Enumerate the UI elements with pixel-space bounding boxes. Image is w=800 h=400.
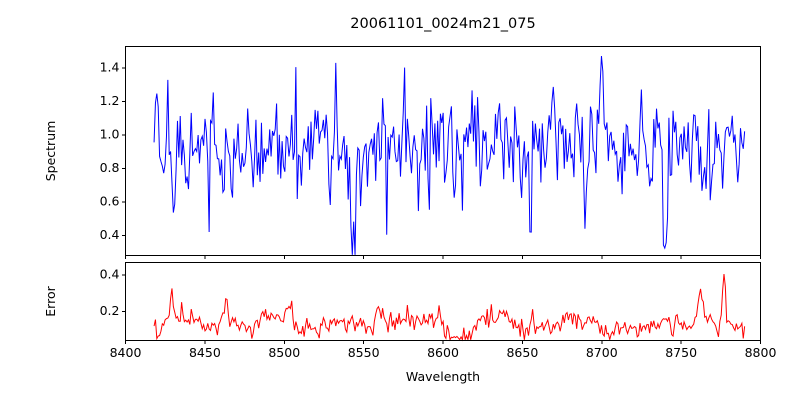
xtick-label: 8700 bbox=[586, 345, 618, 360]
xtick-label: 8650 bbox=[506, 345, 538, 360]
spectrum-panel: 0.40.60.81.01.21.4Spectrum bbox=[43, 47, 761, 260]
xtick-label: 8750 bbox=[665, 345, 697, 360]
xtick-label: 8600 bbox=[427, 345, 459, 360]
error-panel-frame bbox=[126, 263, 761, 341]
figure-title: 20061101_0024m21_075 bbox=[350, 16, 535, 32]
xtick-label: 8400 bbox=[110, 345, 142, 360]
spectrum-panel-ylabel: Spectrum bbox=[43, 121, 58, 182]
error-panel: 0.20.48400845085008550860086508700875088… bbox=[43, 263, 776, 361]
error-panel-ytick-label: 0.2 bbox=[100, 303, 120, 318]
xtick-label: 8450 bbox=[189, 345, 221, 360]
xtick-label: 8500 bbox=[268, 345, 300, 360]
error-panel-ylabel: Error bbox=[43, 285, 58, 316]
figure-canvas: 0.40.60.81.01.21.4Spectrum0.20.484008450… bbox=[0, 0, 800, 400]
error-trace bbox=[154, 274, 745, 340]
spectrum-panel-ytick-label: 0.4 bbox=[100, 227, 120, 242]
spectrum-panel-frame bbox=[126, 47, 761, 256]
spectrum-panel-ytick-label: 1.0 bbox=[100, 127, 120, 142]
spectrum-trace bbox=[154, 56, 745, 255]
error-panel-ytick-label: 0.4 bbox=[100, 267, 120, 282]
spectrum-panel-ytick-label: 0.6 bbox=[100, 193, 120, 208]
xtick-label: 8550 bbox=[348, 345, 380, 360]
xtick-label: 8800 bbox=[745, 345, 777, 360]
xlabel: Wavelength bbox=[406, 369, 480, 384]
spectrum-panel-ytick-label: 1.2 bbox=[100, 93, 120, 108]
spectrum-panel-ytick-label: 0.8 bbox=[100, 160, 120, 175]
spectrum-panel-ytick-label: 1.4 bbox=[100, 60, 120, 75]
spectrum-figure: 0.40.60.81.01.21.4Spectrum0.20.484008450… bbox=[0, 0, 800, 400]
